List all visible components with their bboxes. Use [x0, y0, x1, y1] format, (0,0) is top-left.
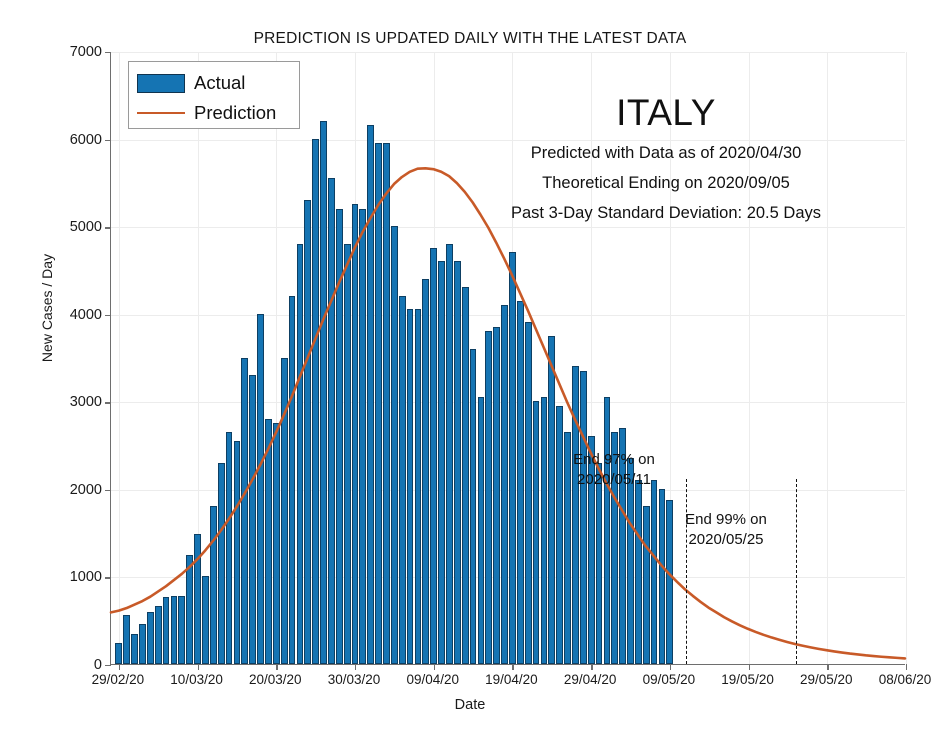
legend-entry-prediction: Prediction: [137, 98, 291, 128]
x-tickmark: [434, 664, 435, 670]
x-tick-label: 10/03/20: [170, 672, 223, 687]
x-tick-label: 29/04/20: [564, 672, 617, 687]
plot-area: Actual Prediction ITALY Predicted with D…: [110, 52, 905, 665]
y-tick-label: 2000: [42, 482, 102, 498]
info-line-theoretical-ending: Theoretical Ending on 2020/09/05: [451, 174, 881, 193]
chart-legend: Actual Prediction: [128, 61, 300, 129]
legend-line-prediction-icon: [137, 112, 185, 114]
x-tickmark: [198, 664, 199, 670]
y-tick-label: 4000: [42, 307, 102, 323]
chart-title: PREDICTION IS UPDATED DAILY WITH THE LAT…: [0, 30, 940, 48]
x-tickmark: [827, 664, 828, 670]
legend-swatch-actual-icon: [137, 74, 185, 93]
x-tick-label: 09/05/20: [643, 672, 696, 687]
x-tickmark: [906, 664, 907, 670]
gridline: [906, 52, 907, 664]
y-tick-label: 7000: [42, 44, 102, 60]
legend-label-actual: Actual: [194, 72, 245, 94]
x-tick-label: 20/03/20: [249, 672, 302, 687]
y-tickmark: [105, 665, 111, 666]
annotation-end-97-line1: End 97% on: [529, 450, 699, 470]
y-axis-tick-labels: 01000200030004000500060007000: [40, 0, 102, 746]
x-tickmark: [512, 664, 513, 670]
x-tick-label: 19/05/20: [721, 672, 774, 687]
x-tick-label: 19/04/20: [485, 672, 538, 687]
x-axis-label: Date: [0, 697, 940, 713]
x-tickmark: [670, 664, 671, 670]
x-tick-label: 29/02/20: [92, 672, 145, 687]
y-tick-label: 5000: [42, 219, 102, 235]
annotation-end-97: End 97% on 2020/05/11: [529, 450, 699, 490]
x-tickmark: [355, 664, 356, 670]
annotation-end-99: End 99% on 2020/05/25: [641, 510, 811, 550]
y-tick-label: 1000: [42, 569, 102, 585]
threshold-line: [686, 479, 687, 664]
info-line-predicted-with-data: Predicted with Data as of 2020/04/30: [451, 144, 881, 163]
country-heading: ITALY: [501, 92, 831, 134]
x-tick-label: 09/04/20: [406, 672, 459, 687]
annotation-end-99-line2: 2020/05/25: [641, 530, 811, 550]
x-tickmark: [276, 664, 277, 670]
threshold-line: [796, 479, 797, 664]
y-tick-label: 3000: [42, 394, 102, 410]
y-tick-label: 0: [42, 657, 102, 673]
figure-canvas: PREDICTION IS UPDATED DAILY WITH THE LAT…: [0, 0, 940, 746]
x-tick-label: 30/03/20: [328, 672, 381, 687]
x-tickmark: [591, 664, 592, 670]
info-line-standard-deviation: Past 3-Day Standard Deviation: 20.5 Days: [429, 204, 903, 223]
x-tickmark: [749, 664, 750, 670]
x-tick-label: 29/05/20: [800, 672, 853, 687]
annotation-end-97-line2: 2020/05/11: [529, 470, 699, 490]
legend-entry-actual: Actual: [137, 68, 291, 98]
legend-label-prediction: Prediction: [194, 102, 276, 124]
x-tickmark: [119, 664, 120, 670]
x-tick-label: 08/06/20: [879, 672, 932, 687]
annotation-end-99-line1: End 99% on: [641, 510, 811, 530]
y-tick-label: 6000: [42, 132, 102, 148]
